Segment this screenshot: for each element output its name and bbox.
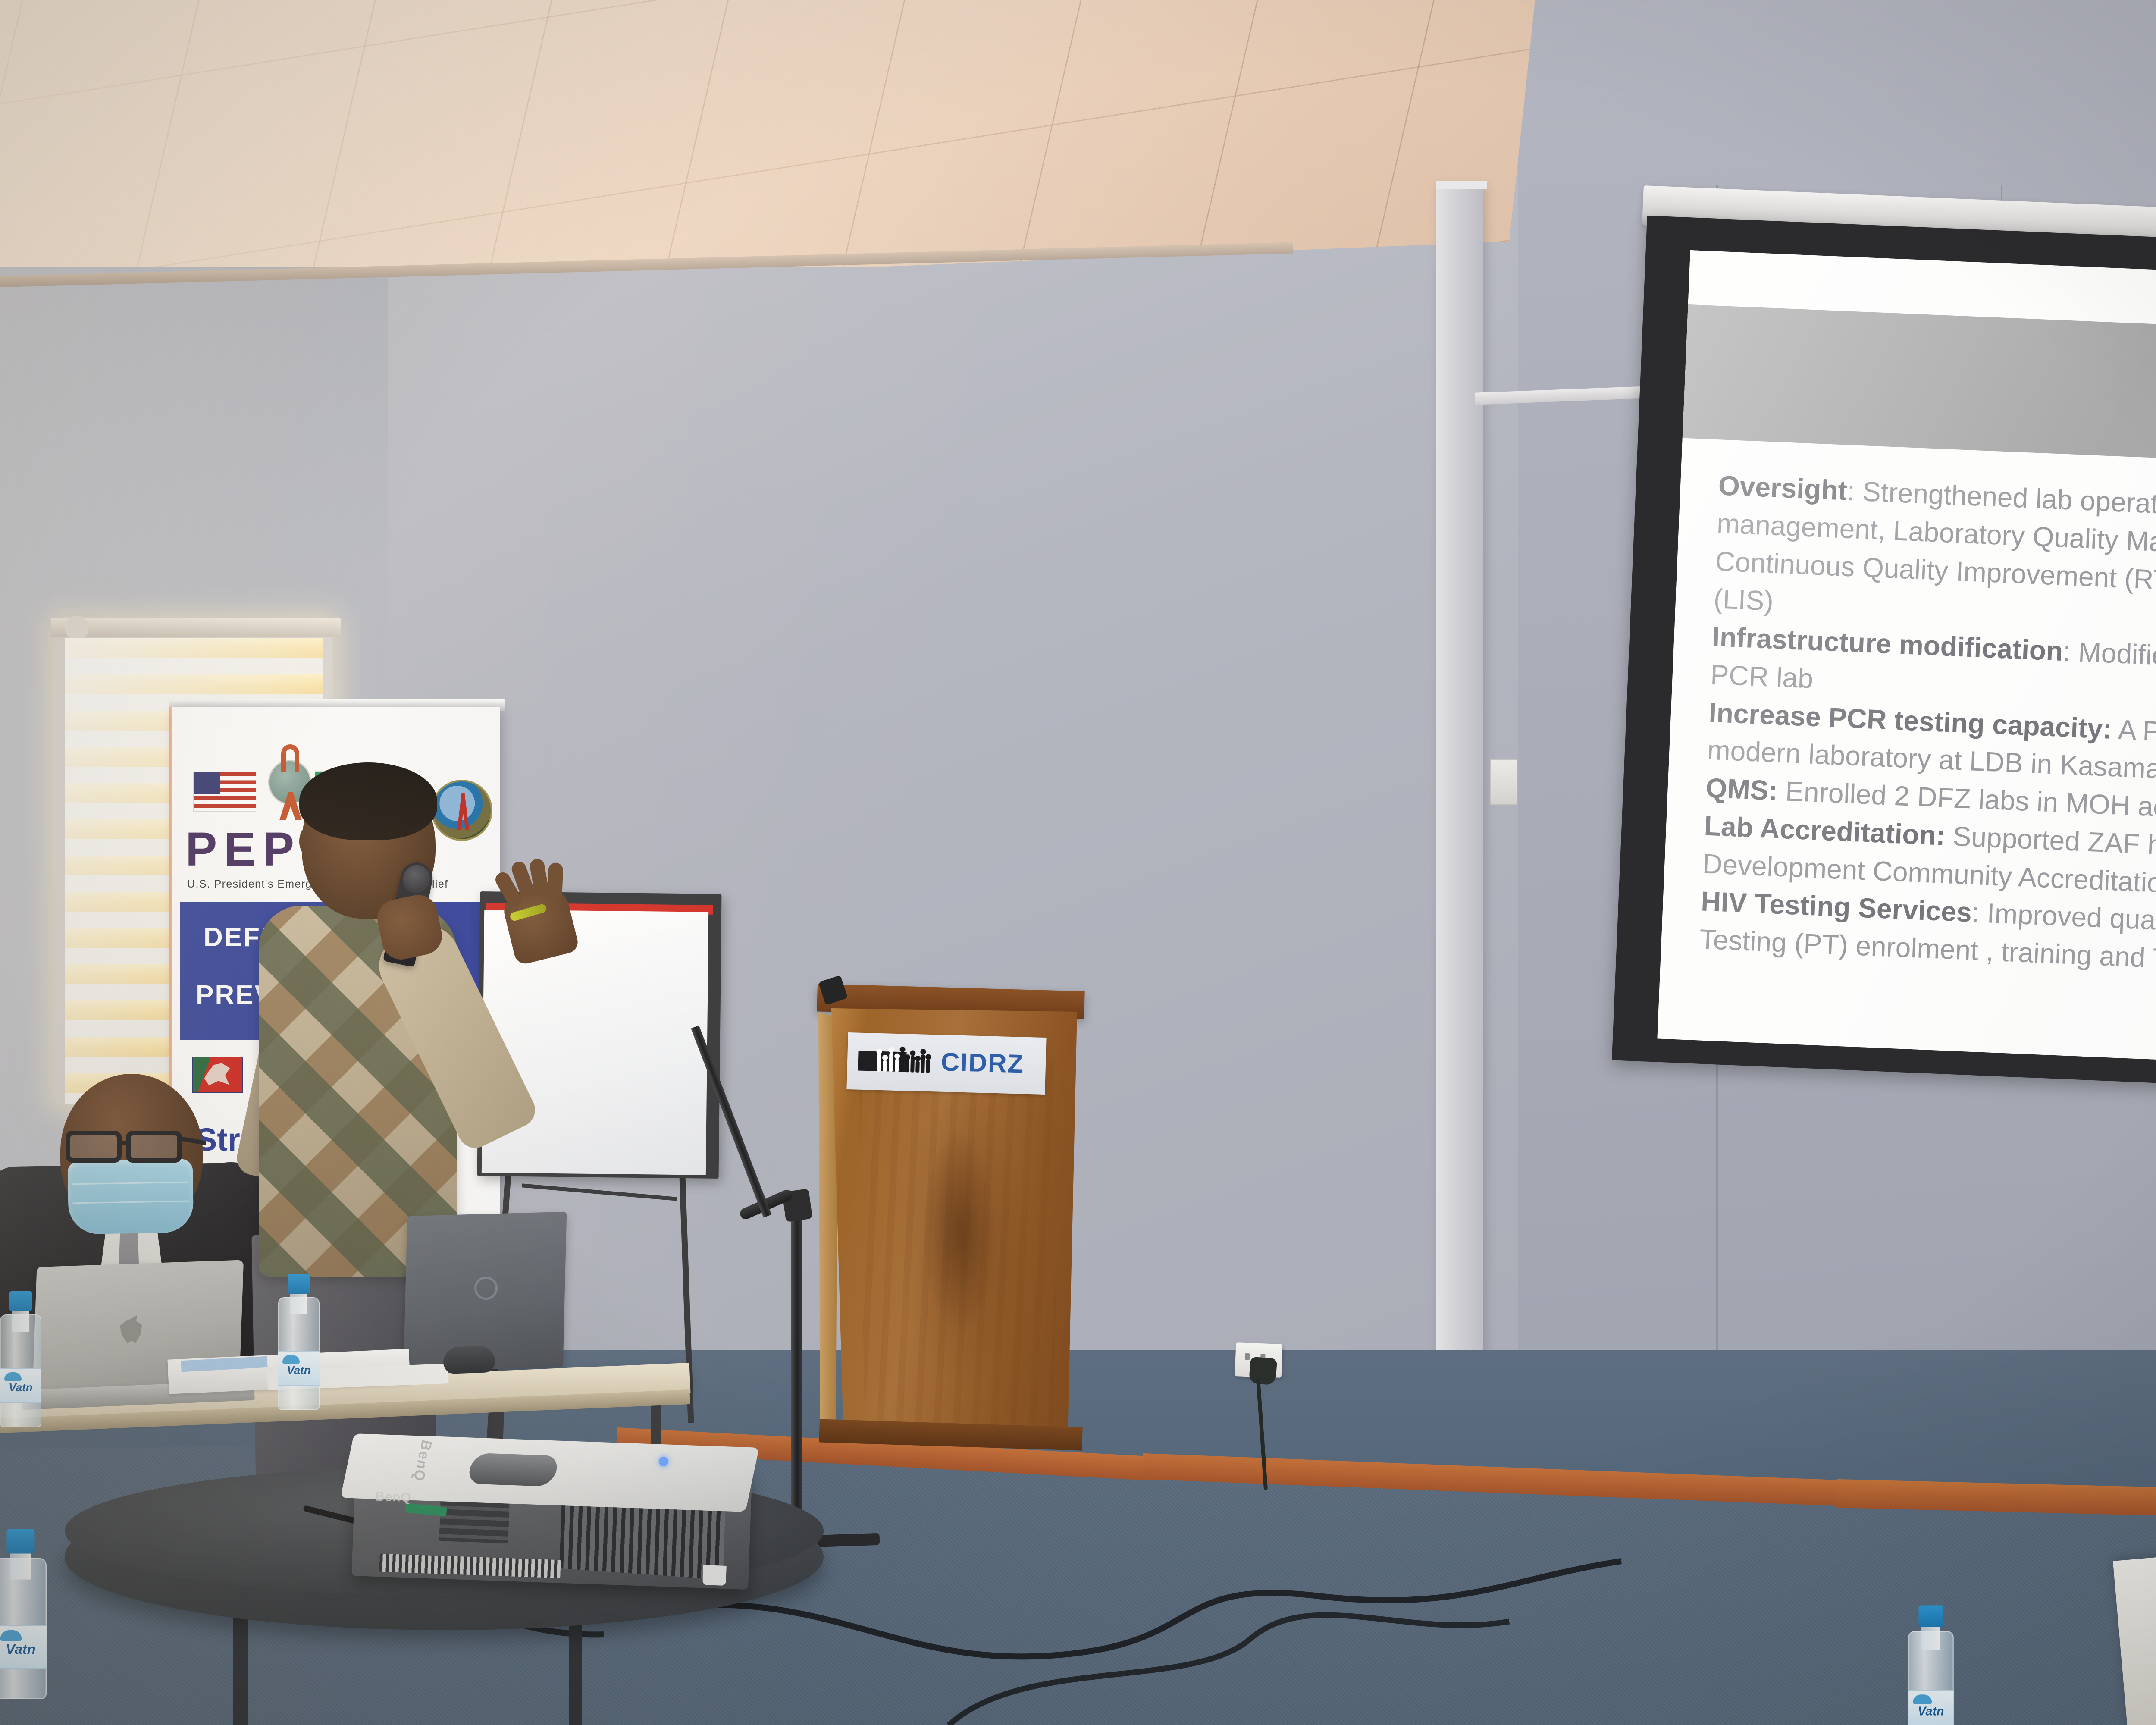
water-bottle[interactable]: Vatn: [0, 1285, 41, 1427]
cidrz-wordmark: CIDRZ: [940, 1047, 1025, 1079]
wall-control-box[interactable]: [1490, 759, 1517, 805]
bottle-label-text: Vatn: [1908, 1704, 1954, 1719]
podium-wood-grain: [858, 1057, 1061, 1436]
projector-foot: [702, 1565, 727, 1586]
cidrz-people-icon: [876, 1044, 932, 1073]
projector-port-panel[interactable]: [439, 1499, 509, 1543]
united-states-flag-icon: [193, 772, 256, 812]
power-plug[interactable]: [1249, 1357, 1277, 1385]
eyeglasses-bridge: [119, 1141, 131, 1145]
bottle-cap: [1918, 1605, 1943, 1627]
presentation-room-photo: PEPFAR U.S. President's Emergency Plan f…: [0, 0, 2156, 1725]
cidrz-person-glyph: [926, 1060, 930, 1073]
military-hiv-seal-icon: [431, 780, 492, 841]
cidrz-person-glyph: [889, 1053, 893, 1072]
slide-body: Oversight: Strengthened lab operations b…: [1698, 467, 2156, 1000]
projector-status-led-icon: [659, 1457, 668, 1466]
water-bottle[interactable]: Vatn: [1908, 1599, 1954, 1725]
slide: HSS - Laboratories Oversight: Strengthen…: [1657, 250, 2156, 1076]
cidrz-person-glyph: [895, 1059, 899, 1072]
slide-title-band: [1683, 304, 2156, 476]
cidrz-person-glyph: [915, 1061, 920, 1073]
face-mask-icon: [68, 1159, 194, 1234]
computer-mouse[interactable]: [443, 1345, 495, 1374]
bottle-cap: [7, 1529, 35, 1554]
bottle-cap: [288, 1274, 310, 1294]
eyeglasses-lens-left: [66, 1131, 122, 1163]
bottle-label-text: Vatn: [0, 1381, 41, 1394]
bottle-cap: [9, 1291, 32, 1311]
zambia-coat-of-arms-icon: [192, 1057, 243, 1093]
projector-lens: [466, 1453, 561, 1487]
presenter-hair: [299, 762, 437, 840]
cidrz-person-glyph: [910, 1056, 915, 1072]
cidrz-person-glyph: [921, 1054, 925, 1073]
aids-ribbon-icon: [281, 744, 299, 772]
bottle-label-text: Vatn: [278, 1364, 320, 1377]
slide-bullet-lead: Oversight: [1718, 470, 1848, 506]
projection-screen-surface: HSS - Laboratories Oversight: Strengthen…: [1657, 250, 2156, 1076]
blind-bracket: [65, 616, 89, 640]
wall-column-cap: [1436, 181, 1487, 189]
cidrz-person-glyph: [877, 1054, 881, 1071]
water-bottle[interactable]: Vatn: [0, 1521, 47, 1700]
projector-brand-label: BenQ: [375, 1490, 411, 1505]
wall-column: [1436, 185, 1483, 1427]
slide-bullet-lead: HIV Testing Services: [1700, 886, 1972, 928]
slide-bullet-lead: QMS:: [1705, 772, 1778, 806]
bottle-label-text: Vatn: [0, 1641, 47, 1658]
cidrz-person-glyph: [900, 1052, 904, 1072]
water-bottle[interactable]: Vatn: [278, 1268, 320, 1410]
slide-bullet-lead: Lab Accreditation:: [1704, 810, 1946, 851]
eyeglasses-lens-right: [126, 1131, 182, 1163]
blind-headrail[interactable]: [51, 618, 341, 637]
cidrz-person-glyph: [883, 1060, 887, 1072]
microphone-stand-pole[interactable]: [791, 1203, 802, 1544]
cidrz-person-glyph: [905, 1060, 909, 1072]
